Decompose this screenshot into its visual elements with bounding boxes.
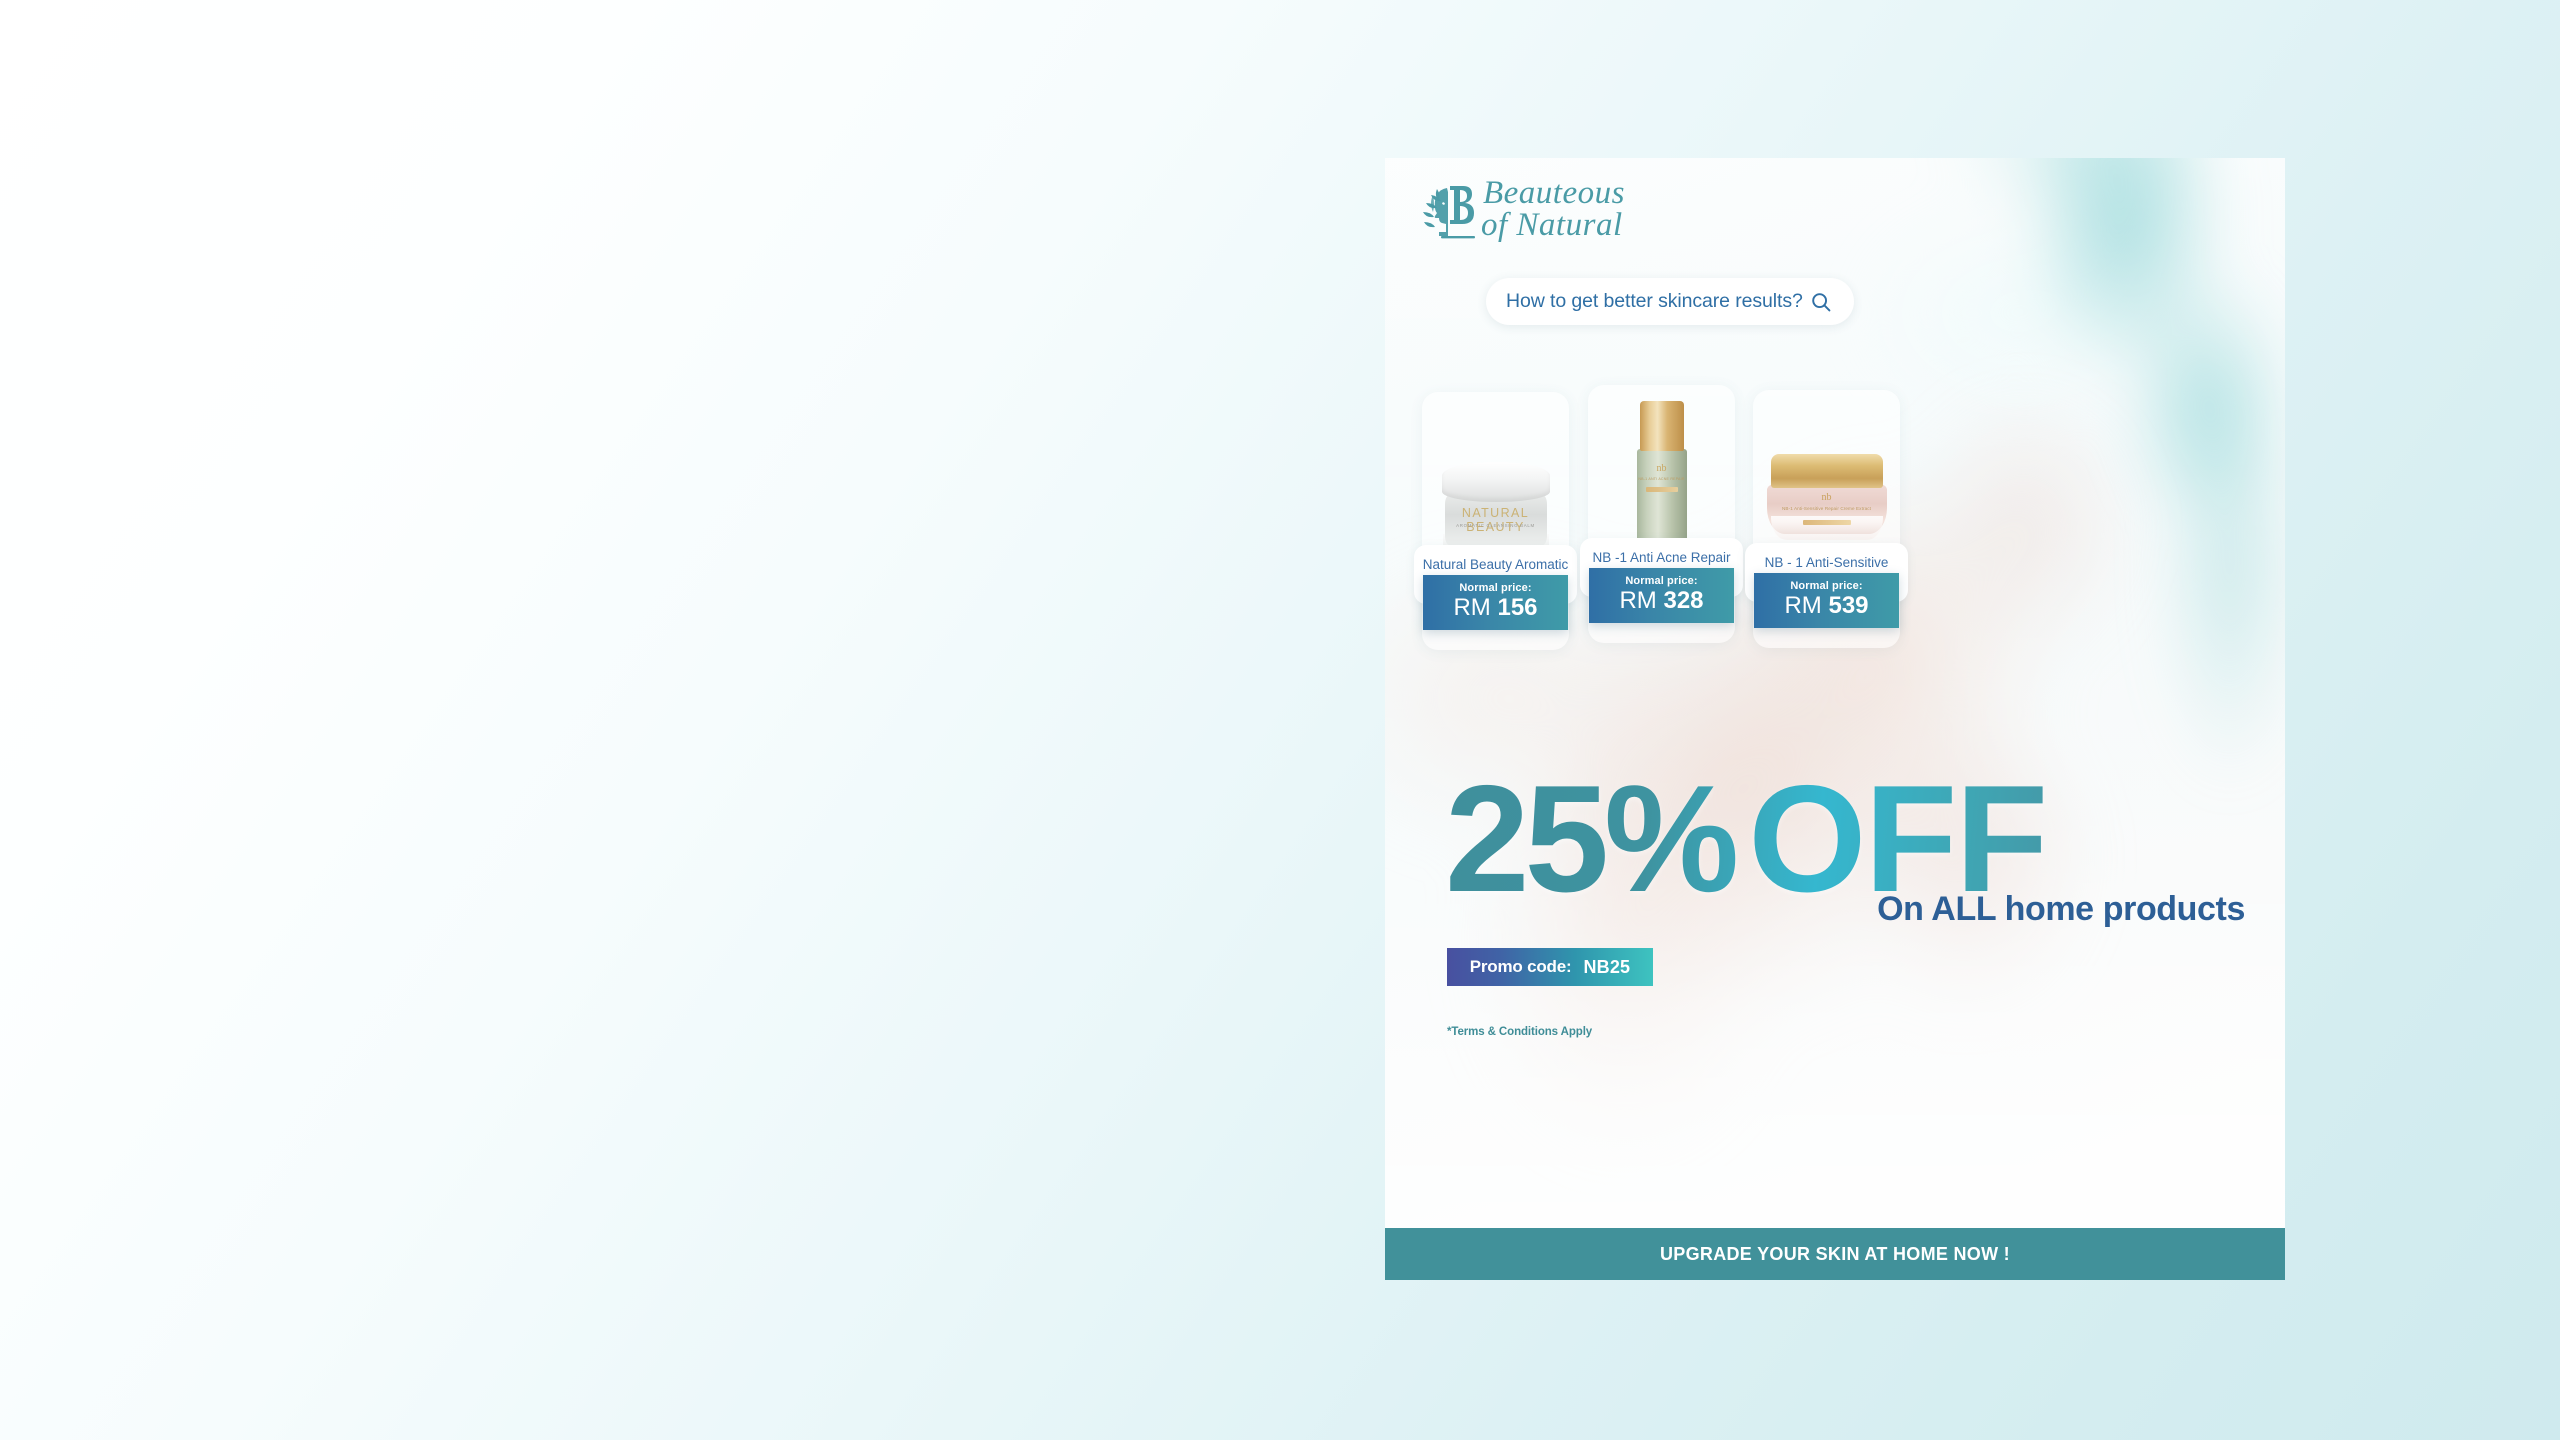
brand-wordmark: Beauteous of Natural bbox=[1483, 178, 1625, 241]
price-label: Normal price: bbox=[1758, 580, 1895, 592]
price-amount: 328 bbox=[1663, 587, 1703, 614]
product-card[interactable]: nb NB-1 Anti-Sensitive Repair Creme Extr… bbox=[1753, 390, 1900, 648]
price-amount: 156 bbox=[1497, 594, 1537, 621]
discount-percent: 25% bbox=[1445, 754, 1734, 924]
b-monogram-woman-leaf-icon bbox=[1417, 179, 1477, 241]
promo-poster: Beauteous of Natural How to get better s… bbox=[1385, 158, 2285, 1280]
price-badge[interactable]: Normal price: RM 156 bbox=[1423, 575, 1568, 630]
price-label: Normal price: bbox=[1593, 575, 1730, 587]
pack-gold-band bbox=[1646, 487, 1678, 492]
cta-footer-bar[interactable]: UPGRADE YOUR SKIN AT HOME NOW ! bbox=[1385, 1228, 2285, 1280]
price-amount: 539 bbox=[1828, 592, 1868, 619]
product-card-list: NATURAL BEAUTY AROMATIC CLEANSING BALM N… bbox=[1385, 313, 2285, 733]
promo-code-value[interactable]: NB25 bbox=[1583, 957, 1630, 978]
pink-jar-lid bbox=[1771, 454, 1883, 488]
cta-footer-text: UPGRADE YOUR SKIN AT HOME NOW ! bbox=[1660, 1244, 2010, 1265]
product-image-toning-extract: nb NB-1 ANTI ACNE REPAIR bbox=[1588, 399, 1735, 559]
product-image-creme-extract: nb NB-1 Anti-Sensitive Repair Creme Extr… bbox=[1753, 404, 1900, 564]
pack-label-sub: AROMATIC CLEANSING BALM bbox=[1442, 523, 1550, 528]
pack-gold-band bbox=[1803, 520, 1851, 525]
terms-and-conditions[interactable]: *Terms & Conditions Apply bbox=[1447, 1026, 1592, 1038]
product-info-plate: Natural Beauty Aromatic Cleansing Balm N… bbox=[1414, 545, 1577, 604]
brand-logo[interactable]: Beauteous of Natural bbox=[1417, 178, 1625, 241]
pink-jar-illustration: nb NB-1 Anti-Sensitive Repair Creme Extr… bbox=[1767, 454, 1887, 546]
bottle-cap bbox=[1640, 401, 1684, 451]
product-info-plate: NB - 1 Anti-Sensitive Repair Creme Extra… bbox=[1745, 543, 1908, 602]
pack-label-main: NATURAL BEAUTY bbox=[1442, 506, 1550, 534]
pack-label-sub: NB-1 ANTI ACNE REPAIR bbox=[1634, 477, 1690, 481]
promo-code-banner[interactable]: Promo code: NB25 bbox=[1447, 948, 1653, 986]
offer-subtitle: On ALL home products bbox=[1877, 890, 2245, 929]
search-icon[interactable] bbox=[1810, 291, 1832, 313]
pack-label-sub: NB-1 Anti-Sensitive Repair Creme Extract bbox=[1767, 506, 1887, 512]
brand-logo-line2: of Natural bbox=[1481, 210, 1625, 242]
product-info-plate: NB -1 Anti Acne Repair Toning Extract No… bbox=[1580, 538, 1743, 597]
price-currency: RM bbox=[1619, 587, 1656, 614]
pack-label-main: nb bbox=[1634, 463, 1690, 474]
discount-headline: 25%OFF bbox=[1445, 770, 2046, 910]
promo-code-label: Promo code: bbox=[1470, 957, 1572, 977]
jar-lid bbox=[1442, 462, 1550, 502]
product-image-cleansing-balm: NATURAL BEAUTY AROMATIC CLEANSING BALM bbox=[1422, 406, 1569, 566]
brand-logo-line1: Beauteous bbox=[1483, 178, 1625, 210]
price-badge[interactable]: Normal price: RM 539 bbox=[1754, 573, 1899, 628]
price-currency: RM bbox=[1453, 594, 1490, 621]
price-value: RM 328 bbox=[1593, 588, 1730, 614]
price-value: RM 156 bbox=[1427, 595, 1564, 621]
price-value: RM 539 bbox=[1758, 593, 1895, 619]
page-background: Beauteous of Natural How to get better s… bbox=[0, 0, 2560, 1440]
price-currency: RM bbox=[1784, 592, 1821, 619]
price-label: Normal price: bbox=[1427, 582, 1564, 594]
product-card[interactable]: NATURAL BEAUTY AROMATIC CLEANSING BALM N… bbox=[1422, 392, 1569, 650]
price-badge[interactable]: Normal price: RM 328 bbox=[1589, 568, 1734, 623]
search-input[interactable]: How to get better skincare results? bbox=[1506, 290, 1810, 313]
product-card[interactable]: nb NB-1 ANTI ACNE REPAIR NB -1 Anti Acne… bbox=[1588, 385, 1735, 643]
pack-label-main: nb bbox=[1767, 492, 1887, 503]
offer-headline: 25%OFF On ALL home products bbox=[1445, 770, 2245, 920]
bottle-illustration: nb NB-1 ANTI ACNE REPAIR bbox=[1634, 401, 1690, 561]
